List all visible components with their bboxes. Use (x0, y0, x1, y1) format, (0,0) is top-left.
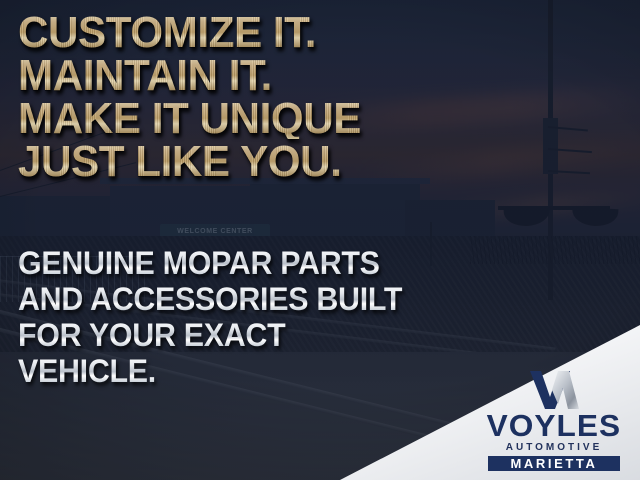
logo-city-banner: MARIETTA (488, 456, 620, 471)
headline-block: CUSTOMIZE IT. MAINTAIN IT. MAKE IT UNIQU… (18, 13, 538, 185)
mopar-parts-ad-banner: WELCOME CENTER CUSTOMIZE IT. MAINTAIN IT… (0, 0, 640, 480)
subhead-line-2: AND ACCESSORIES BUILT (18, 284, 531, 314)
headline-line-3: MAKE IT UNIQUE (18, 99, 517, 139)
voyles-automotive-logo[interactable]: VOYLES AUTOMOTIVE MARIETTA (478, 370, 630, 470)
headline-line-2: MAINTAIN IT. (18, 56, 517, 96)
va-monogram-icon (528, 370, 580, 410)
logo-tagline: AUTOMOTIVE (506, 442, 602, 453)
subhead-line-1: GENUINE MOPAR PARTS (18, 248, 531, 278)
subhead-block: GENUINE MOPAR PARTS AND ACCESSORIES BUIL… (18, 248, 558, 392)
subhead-line-3: FOR YOUR EXACT (18, 320, 531, 350)
logo-brand-name: VOYLES (487, 411, 621, 441)
headline-line-4: JUST LIKE YOU. (18, 142, 517, 182)
headline-line-1: CUSTOMIZE IT. (18, 13, 517, 53)
logo-city-label: MARIETTA (511, 456, 598, 471)
subhead-line-4: VEHICLE. (18, 356, 531, 386)
